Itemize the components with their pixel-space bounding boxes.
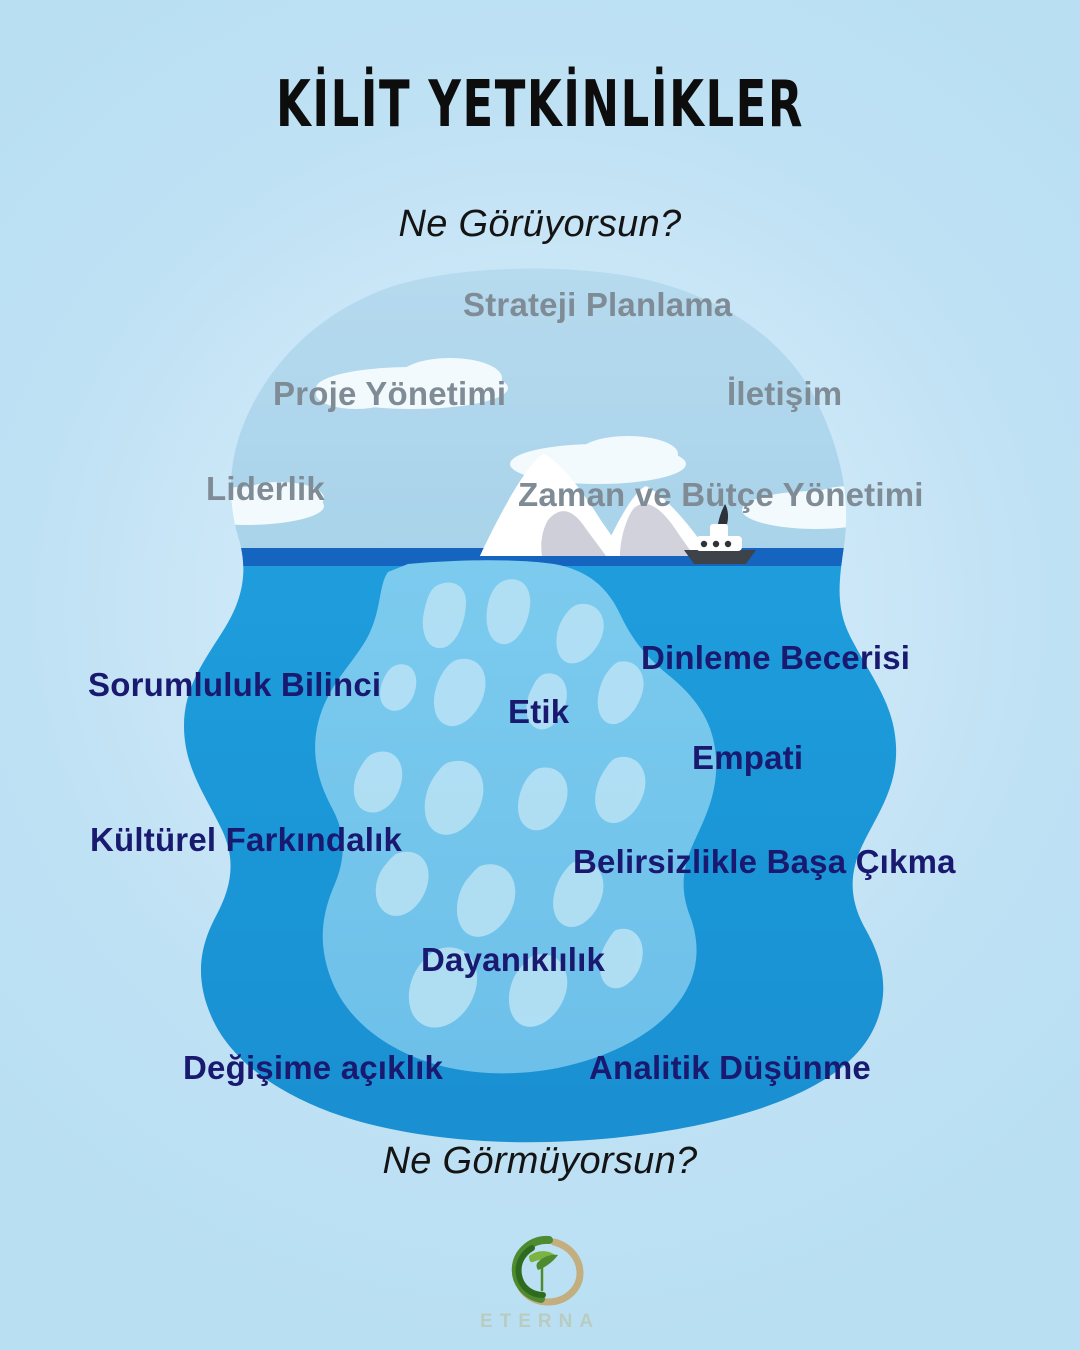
- hidden-skill-etik: Etik: [508, 695, 569, 728]
- hidden-skill-analitik-dusunme: Analitik Düşünme: [589, 1051, 871, 1084]
- subtitle-visible-question: Ne Görüyorsun?: [0, 203, 1080, 246]
- brand-logo: ETERNA: [0, 1232, 1080, 1333]
- visible-skill-zaman-ve-butce-yonetimi: Zaman ve Bütçe Yönetimi: [518, 478, 924, 511]
- hidden-skill-degisime-aciklik: Değişime açıklık: [183, 1051, 443, 1084]
- visible-skill-strateji-planlama: Strateji Planlama: [463, 288, 732, 321]
- poster-canvas: KİLİT YETKİNLİKLER Ne Görüyorsun? Strate…: [0, 0, 1080, 1350]
- hidden-skill-dinleme-becerisi: Dinleme Becerisi: [641, 641, 910, 674]
- subtitle-hidden-question: Ne Görmüyorsun?: [0, 1140, 1080, 1183]
- hidden-skill-empati: Empati: [692, 741, 803, 774]
- hidden-skill-sorumluluk-bilinci: Sorumluluk Bilinci: [88, 668, 381, 701]
- brand-name: ETERNA: [0, 1311, 1080, 1333]
- visible-skill-proje-yonetimi: Proje Yönetimi: [273, 377, 506, 410]
- hidden-skill-kulturel-farkindalik: Kültürel Farkındalık: [90, 823, 402, 856]
- visible-skill-iletisim: İletişim: [727, 377, 842, 410]
- hidden-skill-belirsizlikle-basa-cikma: Belirsizlikle Başa Çıkma: [573, 845, 956, 878]
- hidden-skill-dayaniklilik: Dayanıklılık: [421, 943, 605, 976]
- visible-skill-liderlik: Liderlik: [206, 472, 325, 505]
- page-title: KİLİT YETKİNLİKLER: [119, 72, 961, 139]
- leaf-circle-icon: [492, 1232, 588, 1310]
